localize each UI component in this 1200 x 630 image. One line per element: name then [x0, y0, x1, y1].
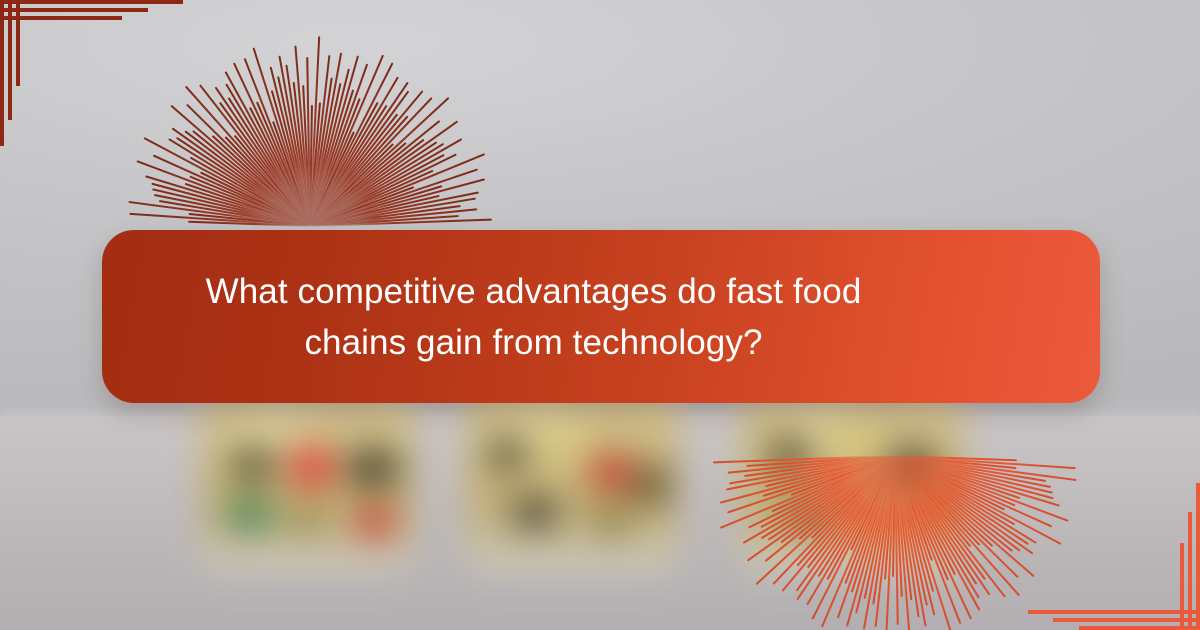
frame-line-vertical: [1180, 543, 1184, 630]
frame-line-vertical: [1196, 483, 1200, 630]
headline-text: What competitive advantages do fast food…: [162, 266, 1040, 368]
frame-line-horizontal: [1053, 618, 1200, 622]
screenshot-canvas: What competitive advantages do fast food…: [0, 0, 1200, 630]
frame-line-horizontal: [1028, 610, 1200, 614]
headline-banner: What competitive advantages do fast food…: [102, 230, 1100, 403]
